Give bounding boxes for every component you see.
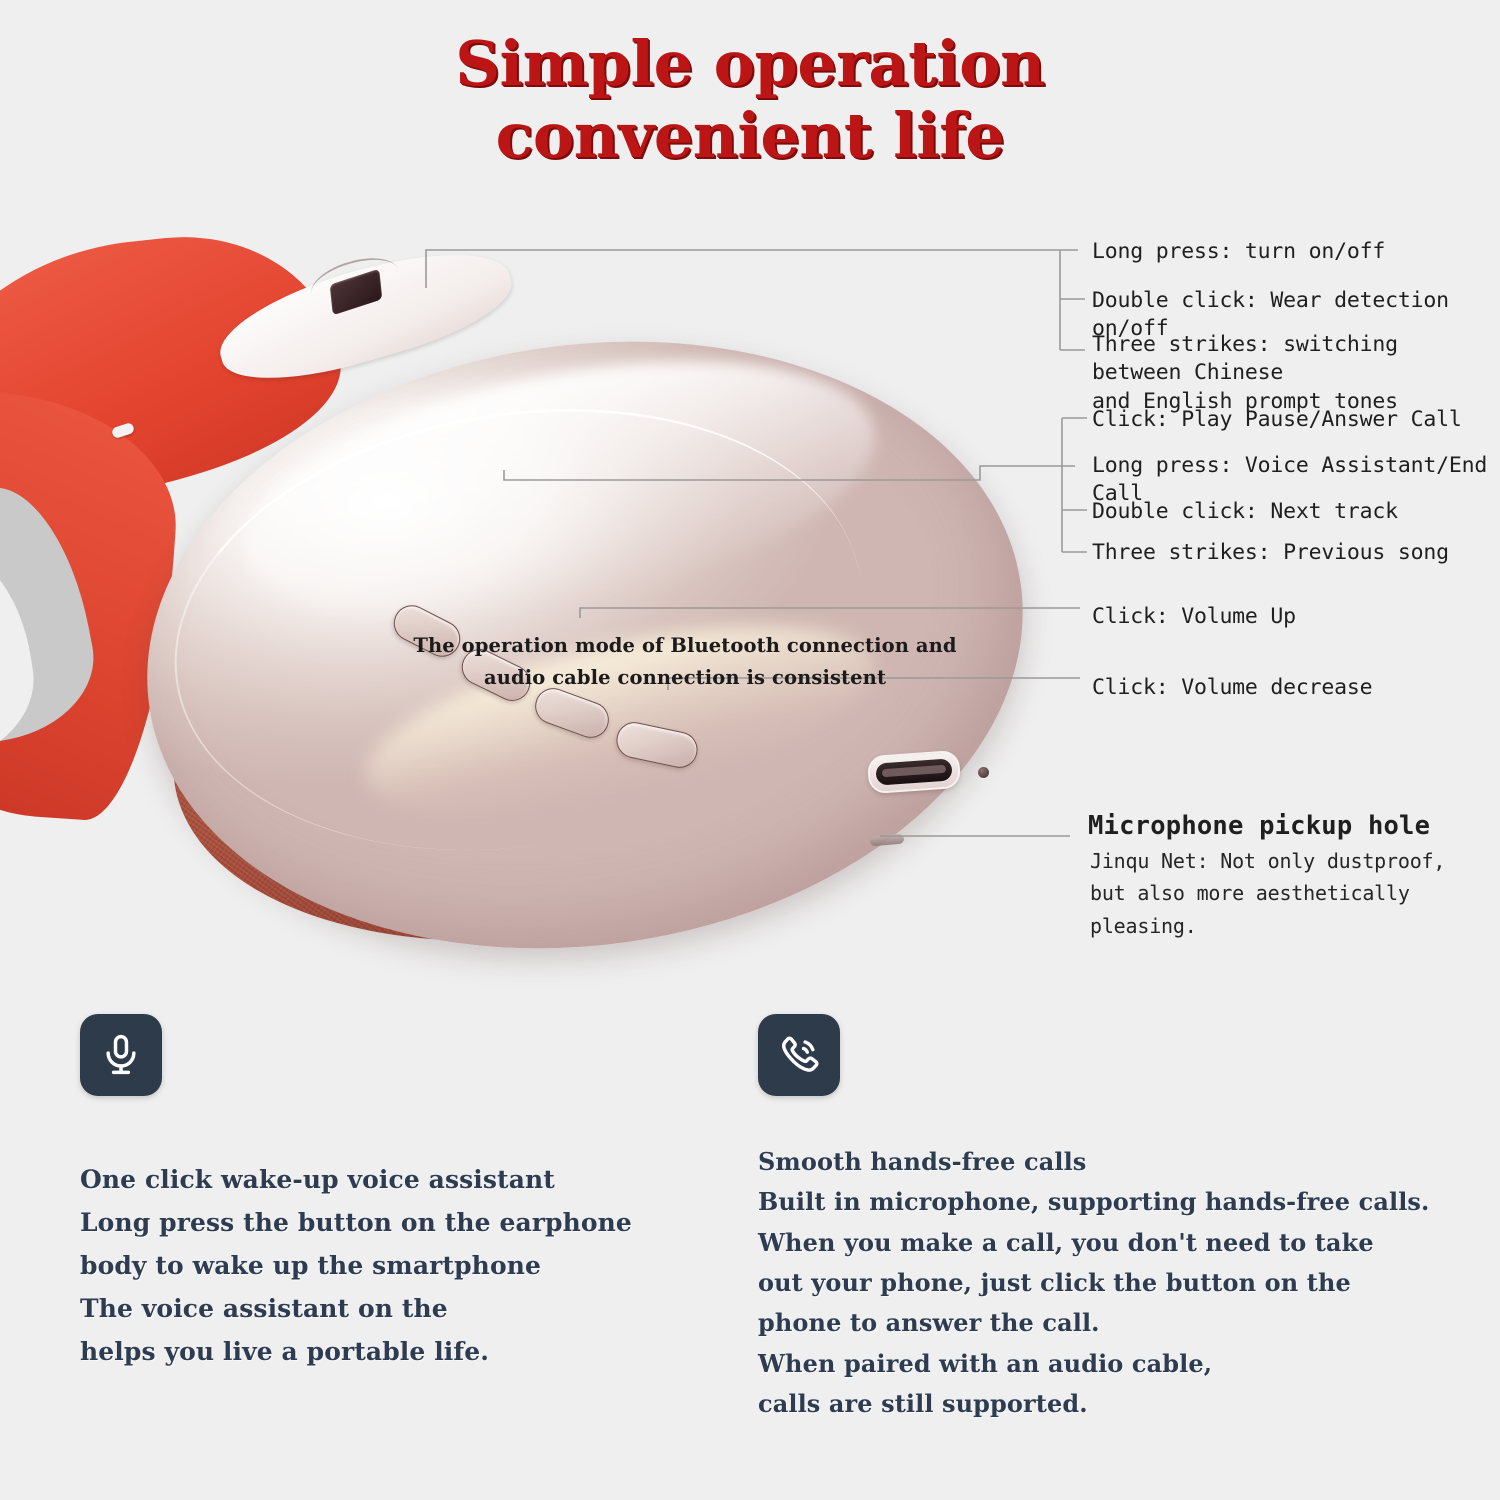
page-title-line-1: Simple operation bbox=[0, 28, 1500, 100]
callout-microphone-sub: Jinqu Net: Not only dustproof, but also … bbox=[1090, 845, 1445, 942]
infographic-page: Simple operation convenient life The ope… bbox=[0, 0, 1500, 1500]
callout-microphone: Microphone pickup hole bbox=[1088, 810, 1430, 844]
feature-hands-free-calls: Smooth hands-free calls Built in microph… bbox=[758, 1014, 1458, 1424]
callout-power: Long press: turn on/off bbox=[1092, 238, 1385, 266]
callout-play: Click: Play Pause/Answer Call bbox=[1092, 406, 1462, 434]
feature-voice-assistant: One click wake-up voice assistant Long p… bbox=[80, 1014, 720, 1373]
callout-volume-up: Click: Volume Up bbox=[1092, 603, 1296, 631]
usb-c-port bbox=[867, 750, 961, 794]
callout-language: Three strikes: switching between Chinese… bbox=[1092, 331, 1398, 416]
earcup-lower-vent-slot bbox=[870, 834, 905, 847]
product-caption: The operation mode of Bluetooth connecti… bbox=[390, 630, 980, 693]
microphone-icon bbox=[80, 1014, 162, 1096]
feature-hands-free-calls-text: Smooth hands-free calls Built in microph… bbox=[758, 1142, 1458, 1424]
feature-voice-assistant-text: One click wake-up voice assistant Long p… bbox=[80, 1158, 720, 1373]
phone-call-icon bbox=[758, 1014, 840, 1096]
product-illustration: The operation mode of Bluetooth connecti… bbox=[0, 225, 1060, 965]
callout-volume-down: Click: Volume decrease bbox=[1092, 674, 1372, 702]
page-title: Simple operation convenient life bbox=[0, 28, 1500, 172]
callout-next-track: Double click: Next track bbox=[1092, 498, 1398, 526]
microphone-pickup-hole-dot bbox=[978, 767, 989, 778]
callout-previous: Three strikes: Previous song bbox=[1092, 539, 1449, 567]
page-title-line-2: convenient life bbox=[0, 100, 1500, 172]
